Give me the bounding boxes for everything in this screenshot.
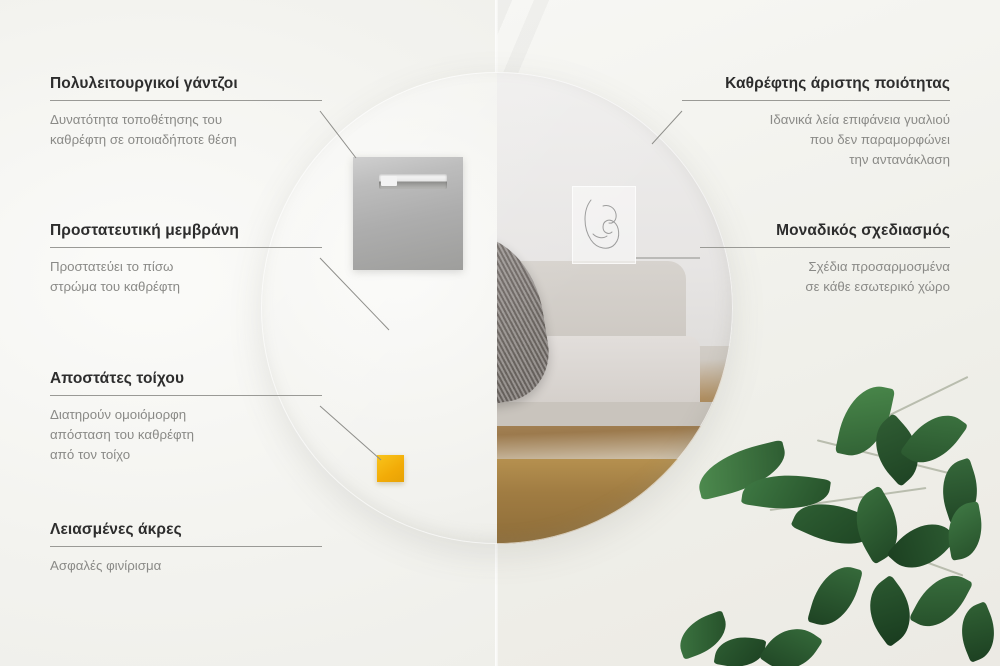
floral-pattern-icon: [261, 72, 733, 544]
callout-spacers-title: Αποστάτες τοίχου: [50, 370, 322, 388]
mounting-plate-icon: [353, 157, 463, 270]
product-mirror: [261, 72, 733, 544]
face-outline-icon: [581, 194, 627, 256]
callout-hooks-body: Δυνατότητα τοποθέτησης του καθρέφτη σε ο…: [50, 110, 322, 150]
callout-spacers-rule: [50, 395, 322, 396]
callout-quality-title: Καθρέφτης άριστης ποιότητας: [682, 75, 950, 93]
callout-edges-body: Ασφαλές φινίρισμα: [50, 556, 322, 576]
callout-hooks-rule: [50, 100, 322, 101]
callout-design: Μοναδικός σχεδιασμός Σχέδια προσαρμοσμέν…: [700, 222, 950, 297]
line-art-face-logo: [572, 186, 636, 264]
callout-spacers-body: Διατηρούν ομοιόμορφη απόσταση του καθρέφ…: [50, 405, 322, 465]
infographic-canvas: Πολυλειτουργικοί γάντζοι Δυνατότητα τοπο…: [0, 0, 1000, 666]
callout-design-title: Μοναδικός σχεδιασμός: [700, 222, 950, 240]
leaf-branch-icon: [670, 366, 1000, 666]
callout-design-rule: [700, 247, 950, 248]
callout-hooks: Πολυλειτουργικοί γάντζοι Δυνατότητα τοπο…: [50, 75, 322, 150]
callout-membrane: Προστατευτική μεμβράνη Προστατεύει το πί…: [50, 222, 322, 297]
hook-slot-icon: [379, 174, 447, 189]
callout-membrane-body: Προστατεύει το πίσω στρώμα του καθρέφτη: [50, 257, 322, 297]
callout-edges-rule: [50, 546, 322, 547]
spacer-square-icon: [377, 455, 404, 482]
callout-spacers: Αποστάτες τοίχου Διατηρούν ομοιόμορφη απ…: [50, 370, 322, 465]
callout-quality-body: Ιδανικά λεία επιφάνεια γυαλιού που δεν π…: [682, 110, 950, 170]
callout-quality: Καθρέφτης άριστης ποιότητας Ιδανικά λεία…: [682, 75, 950, 170]
callout-design-body: Σχέδια προσαρμοσμένα σε κάθε εσωτερικό χ…: [700, 257, 950, 297]
mirror-disc: [261, 72, 733, 544]
callout-edges-title: Λειασμένες άκρες: [50, 521, 322, 539]
callout-edges: Λειασμένες άκρες Ασφαλές φινίρισμα: [50, 521, 322, 576]
callout-hooks-title: Πολυλειτουργικοί γάντζοι: [50, 75, 322, 93]
callout-membrane-title: Προστατευτική μεμβράνη: [50, 222, 322, 240]
callout-quality-rule: [682, 100, 950, 101]
callout-membrane-rule: [50, 247, 322, 248]
